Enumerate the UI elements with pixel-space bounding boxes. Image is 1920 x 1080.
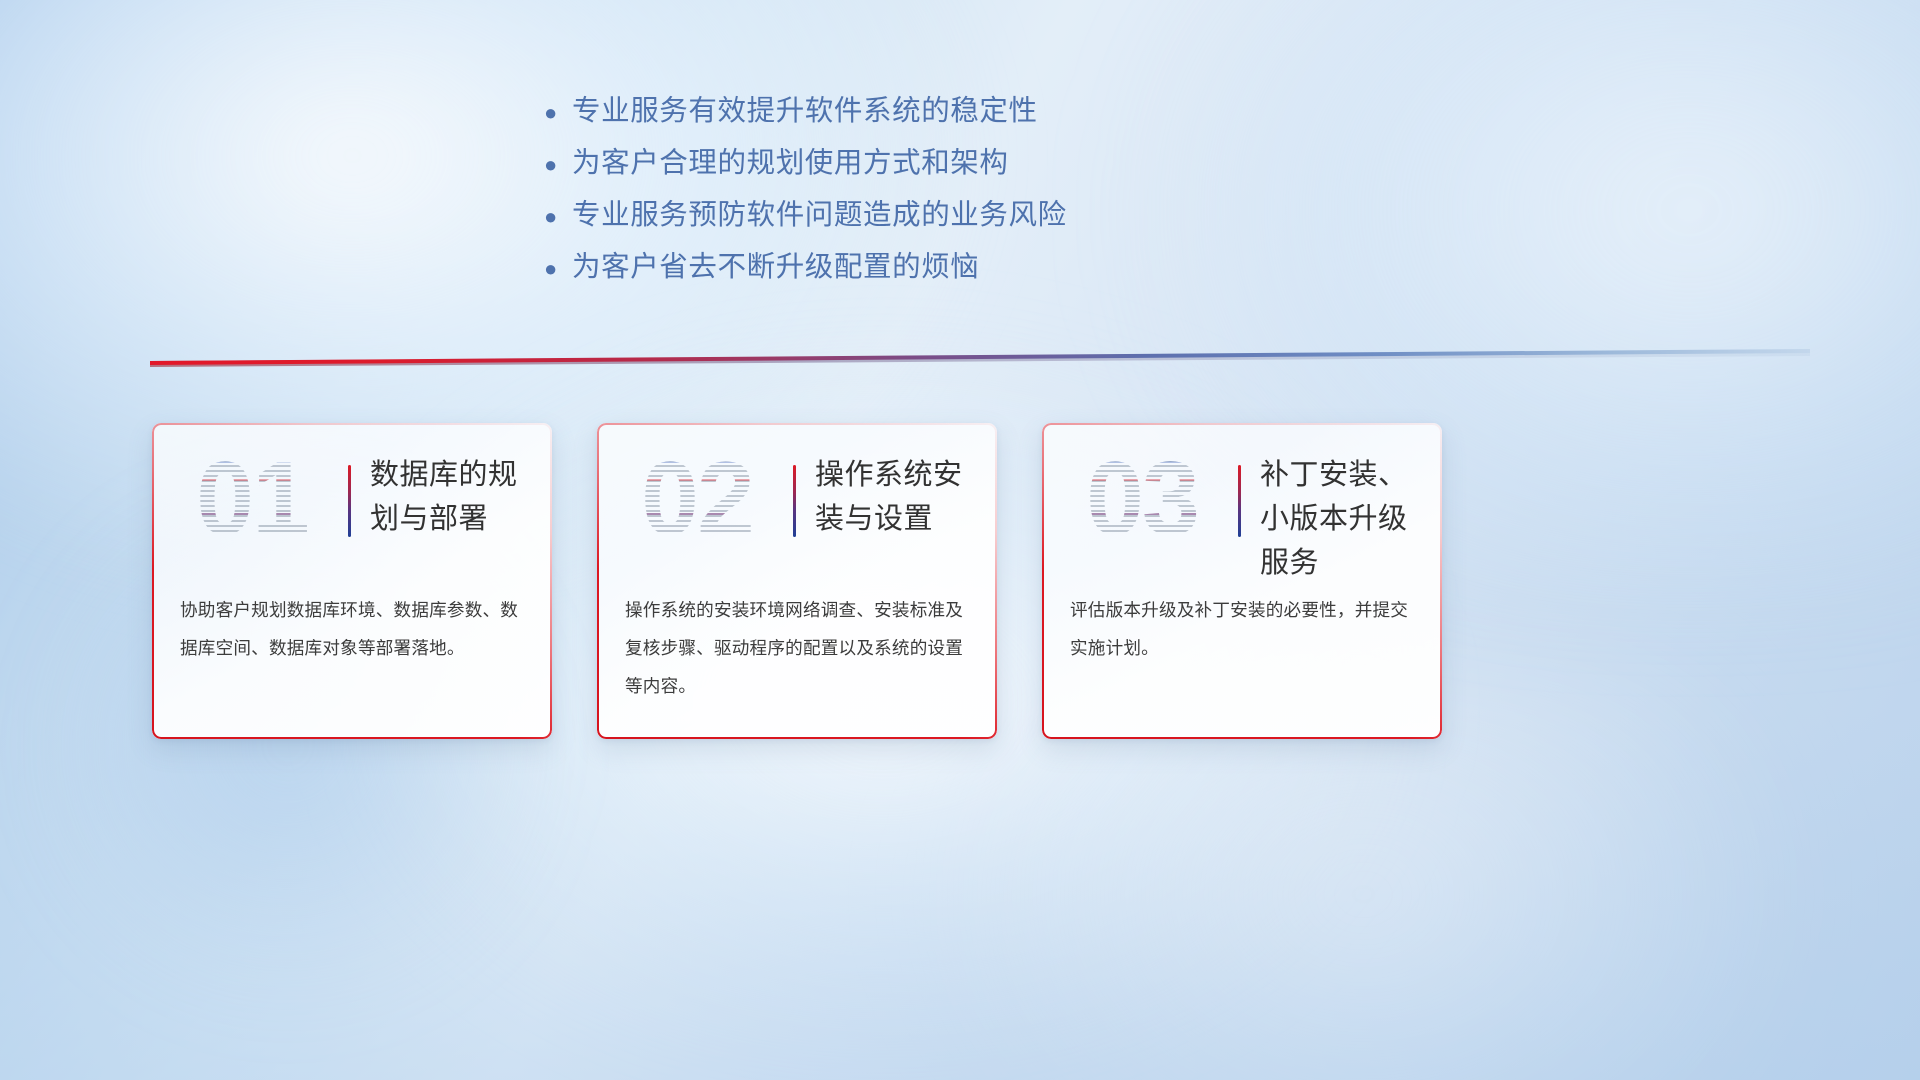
card-title-rule bbox=[348, 465, 351, 537]
benefits-bullet-list: ● 专业服务有效提升软件系统的稳定性 ● 为客户合理的规划使用方式和架构 ● 专… bbox=[536, 88, 1356, 296]
card-number: 01 bbox=[172, 445, 332, 553]
card-header: 02 02 02 操作系统安装与设置 bbox=[597, 423, 997, 575]
background-bottom-tint bbox=[0, 713, 1920, 1080]
card-title-rule bbox=[793, 465, 796, 537]
service-card-01[interactable]: 01 01 01 数据库的规划与部署 协助客户规划数据库环境、数据库参数、数据库… bbox=[152, 423, 552, 739]
bullet-dot-icon: ● bbox=[536, 154, 572, 176]
card-body-text: 评估版本升级及补丁安装的必要性，并提交实施计划。 bbox=[1070, 591, 1422, 667]
card-body-text: 操作系统的安装环境网络调查、安装标准及复核步骤、驱动程序的配置以及系统的设置等内… bbox=[625, 591, 977, 705]
bullet-text: 为客户省去不断升级配置的烦恼 bbox=[572, 244, 979, 285]
bullet-dot-icon: ● bbox=[536, 258, 572, 280]
card-title: 补丁安装、小版本升级服务 bbox=[1260, 453, 1432, 585]
service-card-03[interactable]: 03 03 03 补丁安装、小版本升级服务 评估版本升级及补丁安装的必要性，并提… bbox=[1042, 423, 1442, 739]
card-header: 03 03 03 补丁安装、小版本升级服务 bbox=[1042, 423, 1442, 575]
card-number: 02 bbox=[617, 445, 777, 553]
bullet-dot-icon: ● bbox=[536, 102, 572, 124]
bullet-text: 专业服务有效提升软件系统的稳定性 bbox=[572, 88, 1038, 129]
card-title: 数据库的规划与部署 bbox=[370, 453, 542, 541]
card-header: 01 01 01 数据库的规划与部署 bbox=[152, 423, 552, 575]
service-card-02[interactable]: 02 02 02 操作系统安装与设置 操作系统的安装环境网络调查、安装标准及复核… bbox=[597, 423, 997, 739]
bullet-text: 专业服务预防软件问题造成的业务风险 bbox=[572, 192, 1067, 233]
bullet-text: 为客户合理的规划使用方式和架构 bbox=[572, 140, 1009, 181]
list-item: ● 专业服务预防软件问题造成的业务风险 bbox=[536, 192, 1356, 244]
service-cards: 01 01 01 数据库的规划与部署 协助客户规划数据库环境、数据库参数、数据库… bbox=[152, 423, 1442, 739]
divider-shape bbox=[150, 345, 1810, 367]
card-body-text: 协助客户规划数据库环境、数据库参数、数据库空间、数据库对象等部署落地。 bbox=[180, 591, 532, 667]
list-item: ● 专业服务有效提升软件系统的稳定性 bbox=[536, 88, 1356, 140]
card-number: 03 bbox=[1062, 445, 1222, 553]
bullet-dot-icon: ● bbox=[536, 206, 572, 228]
tapered-accent-divider bbox=[150, 345, 1810, 367]
card-title: 操作系统安装与设置 bbox=[815, 453, 987, 541]
list-item: ● 为客户省去不断升级配置的烦恼 bbox=[536, 244, 1356, 296]
list-item: ● 为客户合理的规划使用方式和架构 bbox=[536, 140, 1356, 192]
card-title-rule bbox=[1238, 465, 1241, 537]
